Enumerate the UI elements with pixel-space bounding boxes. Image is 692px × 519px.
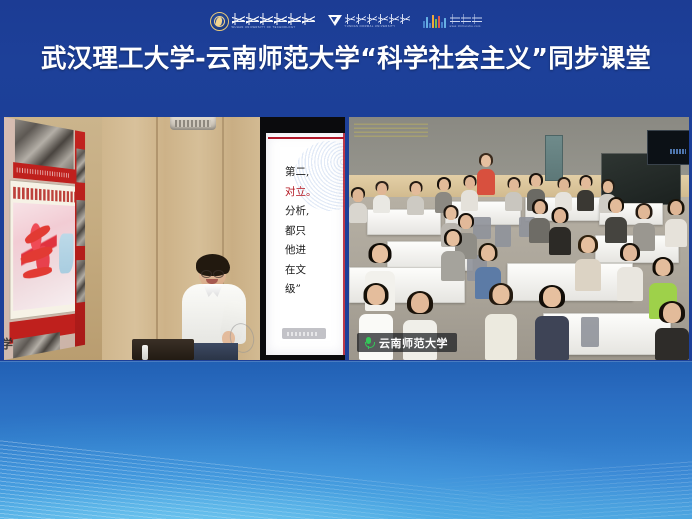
classroom-background: 学 第二, 对立。 分析, 都只 他进 在文 — [4, 117, 345, 360]
student-figure — [407, 183, 424, 215]
student-figure — [535, 287, 569, 360]
video-band: 学 第二, 对立。 分析, 都只 他进 在文 — [0, 117, 692, 361]
projected-line: 在文 — [285, 261, 343, 281]
student-figure — [665, 201, 687, 247]
zhihuishu-chinese-name — [450, 13, 483, 24]
student-table — [507, 263, 633, 301]
slide-bottom-background — [0, 361, 692, 519]
zhihuishu-logo: www.zhihuishu.com — [423, 7, 483, 35]
logo-bar: WUHAN UNIVERSITY OF TECHNOLOGY YUNNAN NO… — [0, 6, 692, 36]
zhihuishu-url: www.zhihuishu.com — [450, 25, 483, 29]
student-figure — [577, 177, 594, 211]
wut-english-name: WUHAN UNIVERSITY OF TECHNOLOGY — [232, 26, 316, 30]
divider-line — [0, 361, 692, 362]
microphone-icon — [363, 336, 374, 349]
site-label-badge: 云南师范大学 — [357, 333, 457, 352]
wut-seal-icon — [210, 12, 229, 31]
student-figure — [605, 199, 627, 243]
ynnu-english-name: YUNNAN NORMAL UNIVERSITY — [345, 25, 411, 29]
classroom-door — [545, 135, 563, 181]
camera-timestamp-overlay — [354, 121, 428, 137]
wut-chinese-name — [232, 12, 316, 25]
student-figure — [617, 245, 643, 301]
site-label-text: 云南师范大学 — [379, 335, 448, 351]
projected-line: 都只 — [285, 222, 343, 242]
zhihuishu-wordmark: www.zhihuishu.com — [450, 13, 483, 29]
student-figure — [505, 179, 522, 211]
projected-slide-text: 第二, 对立。 分析, 都只 他进 在文 级” — [285, 163, 343, 300]
projected-line: 对立。 — [285, 183, 343, 203]
projected-line: 级” — [285, 280, 343, 300]
student-figure — [349, 189, 367, 223]
video-panel-wuhan[interactable]: 学 第二, 对立。 分析, 都只 他进 在文 — [4, 117, 345, 360]
wuhan-university-of-technology-logo: WUHAN UNIVERSITY OF TECHNOLOGY — [210, 7, 316, 35]
student-figure — [655, 303, 689, 360]
student-figure — [529, 201, 550, 243]
student-figure — [441, 231, 465, 281]
ynnu-chinese-name — [345, 13, 411, 24]
student-figure — [485, 285, 517, 360]
student-figure — [575, 237, 601, 291]
page-title: 武汉理工大学-云南师范大学“科学社会主义”同步课堂 — [0, 38, 692, 75]
history-exhibition-wall — [4, 117, 85, 360]
wut-wordmark: WUHAN UNIVERSITY OF TECHNOLOGY — [232, 12, 316, 30]
projection-area: 第二, 对立。 分析, 都只 他进 在文 级” — [260, 117, 345, 360]
ceiling-vent — [170, 117, 216, 130]
exhibit-map-poster — [10, 180, 78, 321]
exhibit-photo — [76, 148, 85, 183]
wall-monitor — [647, 130, 689, 165]
student-figure — [461, 177, 478, 211]
projected-line: 第二, — [285, 163, 343, 183]
student-figure — [549, 209, 571, 255]
wall-character-label: 学 — [4, 335, 14, 352]
slide-header: WUHAN UNIVERSITY OF TECHNOLOGY YUNNAN NO… — [0, 0, 692, 117]
projection-screen: 第二, 对立。 分析, 都只 他进 在文 级” — [266, 133, 345, 355]
ynnu-triangle-icon — [328, 14, 342, 29]
yunnan-normal-university-logo: YUNNAN NORMAL UNIVERSITY — [328, 7, 411, 35]
projected-line: 分析, — [285, 202, 343, 222]
student-figure — [477, 155, 495, 195]
zhihuishu-bars-icon — [423, 14, 446, 28]
ynnu-wordmark: YUNNAN NORMAL UNIVERSITY — [345, 13, 411, 29]
classroom-background: 云南师范大学 — [349, 117, 689, 360]
student-figure — [373, 183, 390, 213]
projected-line: 他进 — [285, 241, 343, 261]
slide-control-chip — [282, 328, 326, 339]
exhibit-photo — [76, 260, 85, 303]
exhibit-photo — [76, 200, 85, 246]
teacher-glasses — [201, 270, 224, 276]
video-panel-yunnan[interactable]: 云南师范大学 — [349, 117, 689, 360]
presentation-slide: WUHAN UNIVERSITY OF TECHNOLOGY YUNNAN NO… — [0, 0, 692, 519]
water-bottle — [142, 345, 148, 360]
